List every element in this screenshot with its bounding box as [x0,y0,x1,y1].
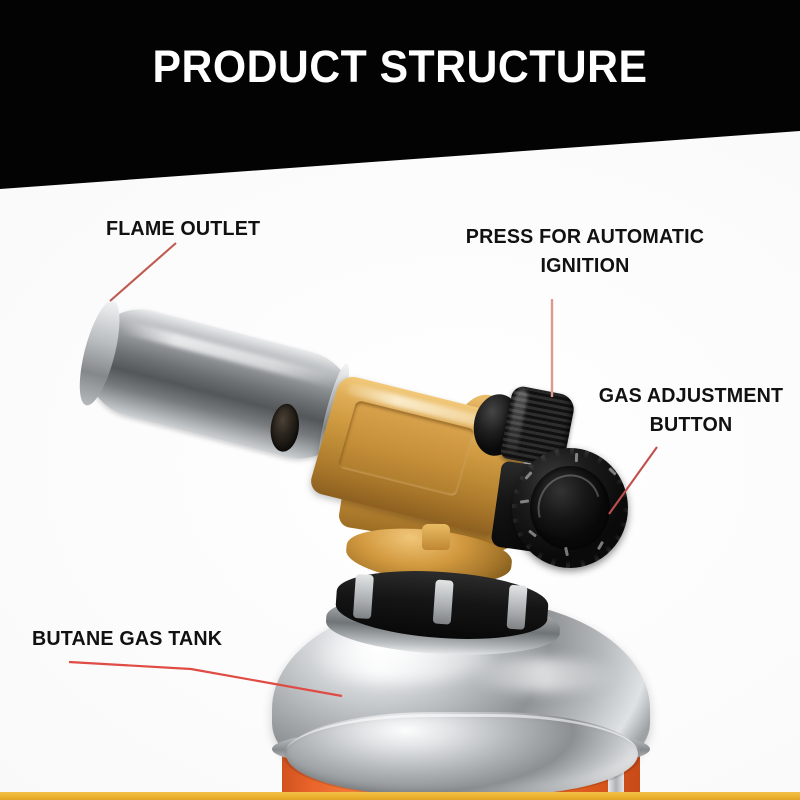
footer-band [0,792,800,800]
callout-label-flame-outlet: FLAME OUTLET [106,214,260,243]
callout-label-automatic-ignition: PRESS FOR AUTOMATIC IGNITION [455,222,714,280]
callout-text-ignition-line1: PRESS FOR AUTOMATIC [455,222,714,251]
callout-label-gas-adjustment-button: GAS ADJUSTMENT BUTTON [590,381,792,439]
callout-label-butane-gas-tank: BUTANE GAS TANK [32,624,222,653]
leader-line-gas-adjustment [609,447,657,514]
callout-text-gas-line1: GAS ADJUSTMENT [590,381,792,410]
page-title: PRODUCT STRUCTURE [20,44,780,89]
callout-text-ignition-line2: IGNITION [455,251,714,280]
callout-text-butane-gas-tank: BUTANE GAS TANK [32,627,222,650]
callout-text-gas-line2: BUTTON [590,410,792,439]
leader-line-butane-tank [69,662,342,696]
leader-line-flame-outlet [110,243,176,301]
callout-text-flame-outlet: FLAME OUTLET [106,217,260,240]
product-structure-infographic: FLAME OUTLET PRESS FOR AUTOMATIC IGNITIO… [0,0,800,800]
